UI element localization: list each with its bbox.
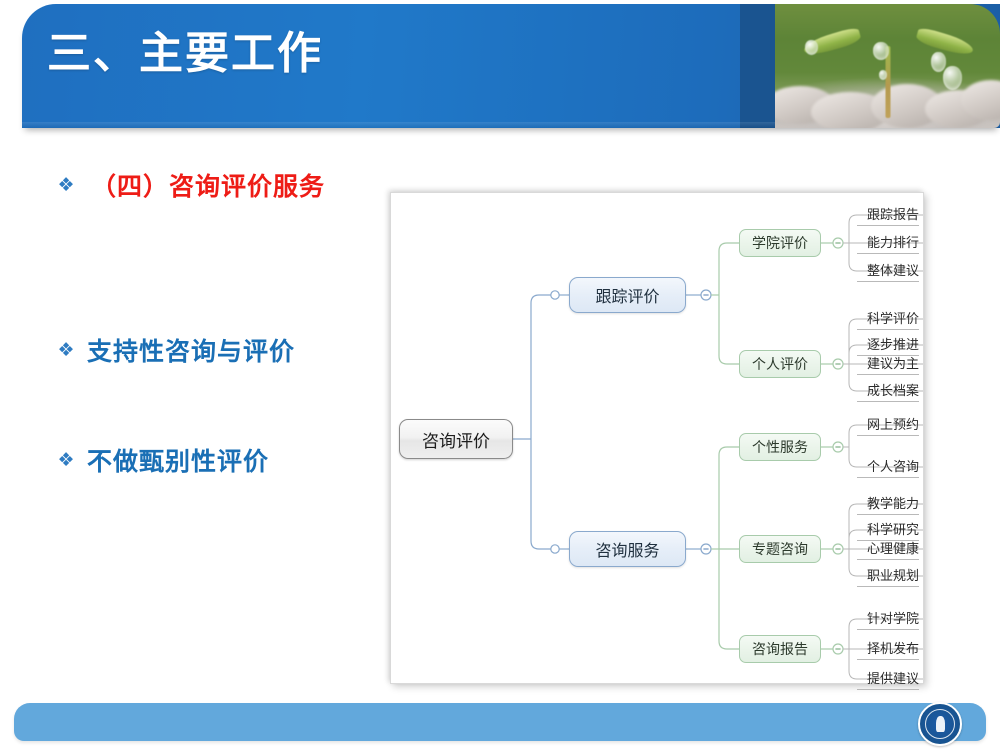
dew-drop (805, 40, 818, 55)
sprout-leaf-right (915, 26, 975, 57)
mindmap-leaf[interactable]: 提供建议 (857, 668, 919, 690)
mindmap-leaf[interactable]: 成长档案 (857, 380, 919, 402)
seal-inner-ring (925, 709, 955, 739)
bullet-item-1: ❖ （四）咨询评价服务 (55, 167, 325, 203)
bullet-label-3: 不做甄别性评价 (83, 442, 269, 478)
mindmap-subnode-个性服务[interactable]: 个性服务 (739, 433, 821, 461)
mindmap-leaf[interactable]: 针对学院 (857, 608, 919, 630)
header-accent-strip (740, 4, 776, 128)
bullet-item-3: ❖ 不做甄别性评价 (55, 442, 269, 478)
mindmap-leaf[interactable]: 跟踪报告 (857, 204, 919, 226)
mindmap-leaf[interactable]: 整体建议 (857, 260, 919, 282)
university-seal-logo (918, 702, 962, 746)
mindmap-leaf[interactable]: 教学能力 (857, 493, 919, 515)
bullet-item-2: ❖ 支持性咨询与评价 (55, 332, 295, 368)
mindmap-diagram: 咨询评价 跟踪评价 咨询服务 学院评价 个人评价 个性服务 专题咨询 咨询报告 … (390, 192, 924, 684)
mindmap-root-node[interactable]: 咨询评价 (399, 419, 513, 459)
mindmap-leaf[interactable]: 网上预约 (857, 414, 919, 436)
dew-drop (873, 42, 889, 60)
mindmap-leaf[interactable]: 择机发布 (857, 638, 919, 660)
mindmap-leaf[interactable]: 能力排行 (857, 232, 919, 254)
mindmap-subnode-专题咨询[interactable]: 专题咨询 (739, 535, 821, 563)
bullet-label-1: （四）咨询评价服务 (83, 167, 325, 203)
mindmap-branch-咨询服务[interactable]: 咨询服务 (569, 531, 686, 567)
page-title: 三、主要工作 (47, 30, 323, 78)
mindmap-leaf[interactable]: 科学评价 (857, 308, 919, 330)
mindmap-subnode-学院评价[interactable]: 学院评价 (739, 229, 821, 257)
mindmap-leaf[interactable]: 建议为主 (857, 353, 919, 375)
mindmap-subnode-咨询报告[interactable]: 咨询报告 (739, 635, 821, 663)
diamond-bullet-icon: ❖ (55, 174, 77, 196)
mindmap-subnode-个人评价[interactable]: 个人评价 (739, 350, 821, 378)
dew-drop (943, 66, 962, 90)
mindmap-leaf[interactable]: 心理健康 (857, 538, 919, 560)
diamond-bullet-icon: ❖ (55, 449, 77, 471)
mindmap-leaf[interactable]: 个人咨询 (857, 456, 919, 478)
dew-drop (931, 52, 946, 72)
dew-drop (879, 70, 887, 80)
bullet-label-2: 支持性咨询与评价 (83, 332, 295, 368)
header-photo-sprout (775, 4, 1000, 128)
diamond-bullet-icon: ❖ (55, 339, 77, 361)
footer-bar (14, 703, 986, 741)
mindmap-leaf[interactable]: 职业规划 (857, 565, 919, 587)
photo-blur-layer (775, 4, 1000, 128)
seal-emblem-glyph (936, 716, 945, 732)
mindmap-branch-跟踪评价[interactable]: 跟踪评价 (569, 277, 686, 313)
